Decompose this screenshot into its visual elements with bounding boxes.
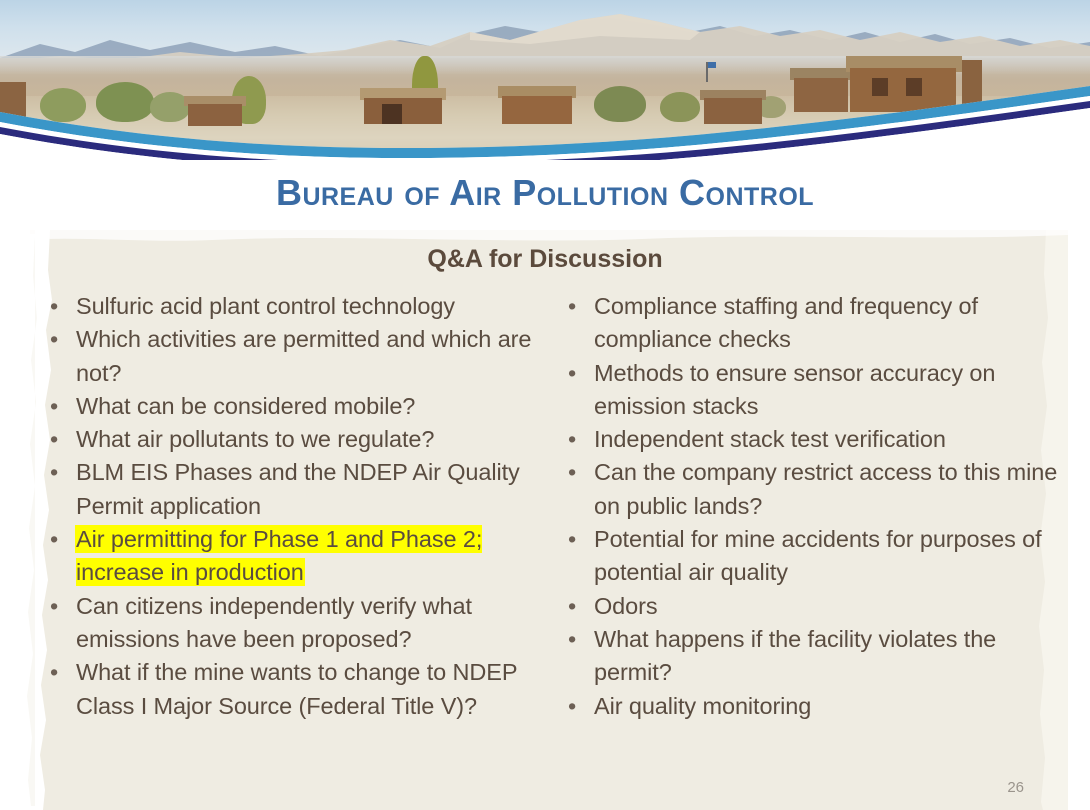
panel-heading: Q&A for Discussion — [22, 245, 1068, 274]
list-item-label: Can citizens independently verify what e… — [76, 593, 472, 652]
list-item: •BLM EIS Phases and the NDEP Air Quality… — [38, 456, 536, 523]
bullet-marker-icon: • — [568, 423, 576, 456]
right-bullet-list: •Compliance staffing and frequency of co… — [556, 290, 1062, 723]
bullet-marker-icon: • — [50, 523, 58, 556]
list-item: •Which activities are permitted and whic… — [38, 323, 536, 390]
list-item-label: Sulfuric acid plant control technology — [76, 293, 455, 319]
list-item: •Air quality monitoring — [556, 690, 1062, 723]
list-item-label: Air quality monitoring — [594, 693, 811, 719]
list-item-label: Methods to ensure sensor accuracy on emi… — [594, 360, 995, 419]
bullet-marker-icon: • — [568, 623, 576, 656]
bullet-marker-icon: • — [50, 456, 58, 489]
list-item-label: Independent stack test verification — [594, 426, 946, 452]
page-title: Bureau of Air Pollution Control — [0, 172, 1090, 214]
list-item-label: What can be considered mobile? — [76, 393, 415, 419]
header-banner — [0, 0, 1090, 160]
list-item-label: What happens if the facility violates th… — [594, 626, 996, 685]
list-item-label: Which activities are permitted and which… — [76, 326, 531, 385]
list-item-label: Air permitting for Phase 1 and Phase 2; … — [76, 526, 482, 585]
list-item-label: Odors — [594, 593, 658, 619]
bullet-marker-icon: • — [568, 357, 576, 390]
list-item: •Odors — [556, 590, 1062, 623]
list-item-label: What if the mine wants to change to NDEP… — [76, 659, 517, 718]
bullet-marker-icon: • — [50, 656, 58, 689]
list-item-label: What air pollutants to we regulate? — [76, 426, 434, 452]
bullet-marker-icon: • — [50, 423, 58, 456]
bullet-marker-icon: • — [568, 590, 576, 623]
bullet-marker-icon: • — [50, 323, 58, 356]
list-item: •What if the mine wants to change to NDE… — [38, 656, 536, 723]
slide: Bureau of Air Pollution Control Q&A for … — [0, 0, 1090, 810]
page-number: 26 — [1007, 779, 1024, 796]
content-panel: Q&A for Discussion •Sulfuric acid plant … — [22, 230, 1068, 810]
list-item: •Air permitting for Phase 1 and Phase 2;… — [38, 523, 536, 590]
bullet-marker-icon: • — [568, 456, 576, 489]
list-item: •Methods to ensure sensor accuracy on em… — [556, 357, 1062, 424]
list-item: •Compliance staffing and frequency of co… — [556, 290, 1062, 357]
list-item-label: Potential for mine accidents for purpose… — [594, 526, 1042, 585]
list-item-label: BLM EIS Phases and the NDEP Air Quality … — [76, 459, 520, 518]
list-item: •What happens if the facility violates t… — [556, 623, 1062, 690]
bullet-columns: •Sulfuric acid plant control technology•… — [22, 290, 1068, 723]
right-column: •Compliance staffing and frequency of co… — [540, 290, 1068, 723]
list-item-label: Can the company restrict access to this … — [594, 459, 1057, 518]
list-item-label: Compliance staffing and frequency of com… — [594, 293, 978, 352]
list-item: •What can be considered mobile? — [38, 390, 536, 423]
bullet-marker-icon: • — [50, 390, 58, 423]
bullet-marker-icon: • — [568, 690, 576, 723]
list-item: •Can the company restrict access to this… — [556, 456, 1062, 523]
left-bullet-list: •Sulfuric acid plant control technology•… — [38, 290, 536, 723]
bullet-marker-icon: • — [568, 523, 576, 556]
list-item: •Potential for mine accidents for purpos… — [556, 523, 1062, 590]
bullet-marker-icon: • — [50, 590, 58, 623]
list-item: •What air pollutants to we regulate? — [38, 423, 536, 456]
list-item: •Sulfuric acid plant control technology — [38, 290, 536, 323]
wave-divider — [0, 0, 1090, 160]
bullet-marker-icon: • — [50, 290, 58, 323]
list-item: •Can citizens independently verify what … — [38, 590, 536, 657]
list-item: •Independent stack test verification — [556, 423, 1062, 456]
bullet-marker-icon: • — [568, 290, 576, 323]
left-column: •Sulfuric acid plant control technology•… — [22, 290, 540, 723]
